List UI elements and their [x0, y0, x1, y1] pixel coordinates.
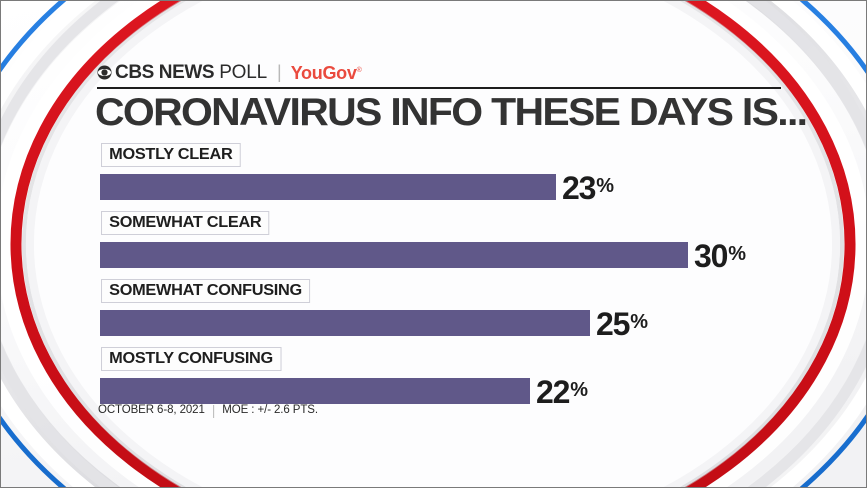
poll-graphic: CBS NEWS POLL | YouGov® CORONAVIRUS INFO…	[0, 0, 867, 488]
bar-value: 25%	[596, 306, 648, 340]
chart-row: MOSTLY CONFUSING 22%	[100, 347, 800, 408]
page-title: CORONAVIRUS INFO THESE DAYS IS...	[95, 91, 851, 135]
bar-fill	[100, 242, 688, 268]
category-label-wrap: MOSTLY CLEAR	[101, 143, 238, 167]
margin-of-error: MOE : +/- 2.6 PTS.	[222, 403, 318, 417]
brand-partner-text: YouGov	[291, 63, 357, 83]
bar-value-suffix: %	[570, 379, 587, 401]
bar-chart: MOSTLY CLEAR 23% SOMEWHAT CLEAR 30%	[100, 143, 800, 415]
cbs-eye-icon	[97, 65, 112, 80]
bar-line: 25%	[100, 306, 800, 340]
footnote-separator: |	[212, 403, 216, 417]
bar-line: 30%	[100, 238, 800, 272]
bar-label: MOSTLY CLEAR	[101, 143, 241, 167]
brand-network: CBS NEWS	[115, 63, 214, 82]
bar-label: MOSTLY CONFUSING	[101, 347, 281, 371]
brand-partner-trademark: ®	[357, 67, 362, 74]
bar-value-number: 25	[596, 306, 629, 342]
bar-fill	[100, 310, 590, 336]
bar-value: 22%	[536, 374, 588, 408]
bar-value-number: 23	[562, 170, 595, 206]
category-label-wrap: SOMEWHAT CONFUSING	[101, 279, 306, 303]
poll-date: OCTOBER 6-8, 2021	[98, 403, 205, 417]
chart-row: SOMEWHAT CLEAR 30%	[100, 211, 800, 272]
bar-label: SOMEWHAT CLEAR	[101, 211, 270, 235]
category-label-wrap: MOSTLY CONFUSING	[101, 347, 278, 371]
bar-value-suffix: %	[728, 243, 745, 265]
bar-label: SOMEWHAT CONFUSING	[101, 279, 310, 303]
bar-value-suffix: %	[630, 311, 647, 333]
bar-fill	[100, 174, 556, 200]
bar-line: 23%	[100, 170, 800, 204]
brand-poll-word: POLL	[219, 63, 267, 82]
header-divider	[97, 87, 781, 89]
bar-value-number: 22	[536, 374, 569, 410]
bar-value-suffix: %	[596, 175, 613, 197]
chart-row: SOMEWHAT CONFUSING 25%	[100, 279, 800, 340]
bar-fill	[100, 378, 530, 404]
category-label-wrap: SOMEWHAT CLEAR	[101, 211, 266, 235]
brand-bar: CBS NEWS POLL | YouGov®	[97, 61, 361, 83]
bar-value-number: 30	[694, 238, 727, 274]
brand-partner: YouGov®	[291, 61, 362, 83]
bar-value: 23%	[562, 170, 614, 204]
chart-row: MOSTLY CLEAR 23%	[100, 143, 800, 204]
footnote: OCTOBER 6-8, 2021 | MOE : +/- 2.6 PTS.	[98, 403, 318, 417]
bar-value: 30%	[694, 238, 746, 272]
brand-separator: |	[277, 63, 282, 82]
poll-content: CBS NEWS POLL | YouGov® CORONAVIRUS INFO…	[1, 1, 867, 488]
